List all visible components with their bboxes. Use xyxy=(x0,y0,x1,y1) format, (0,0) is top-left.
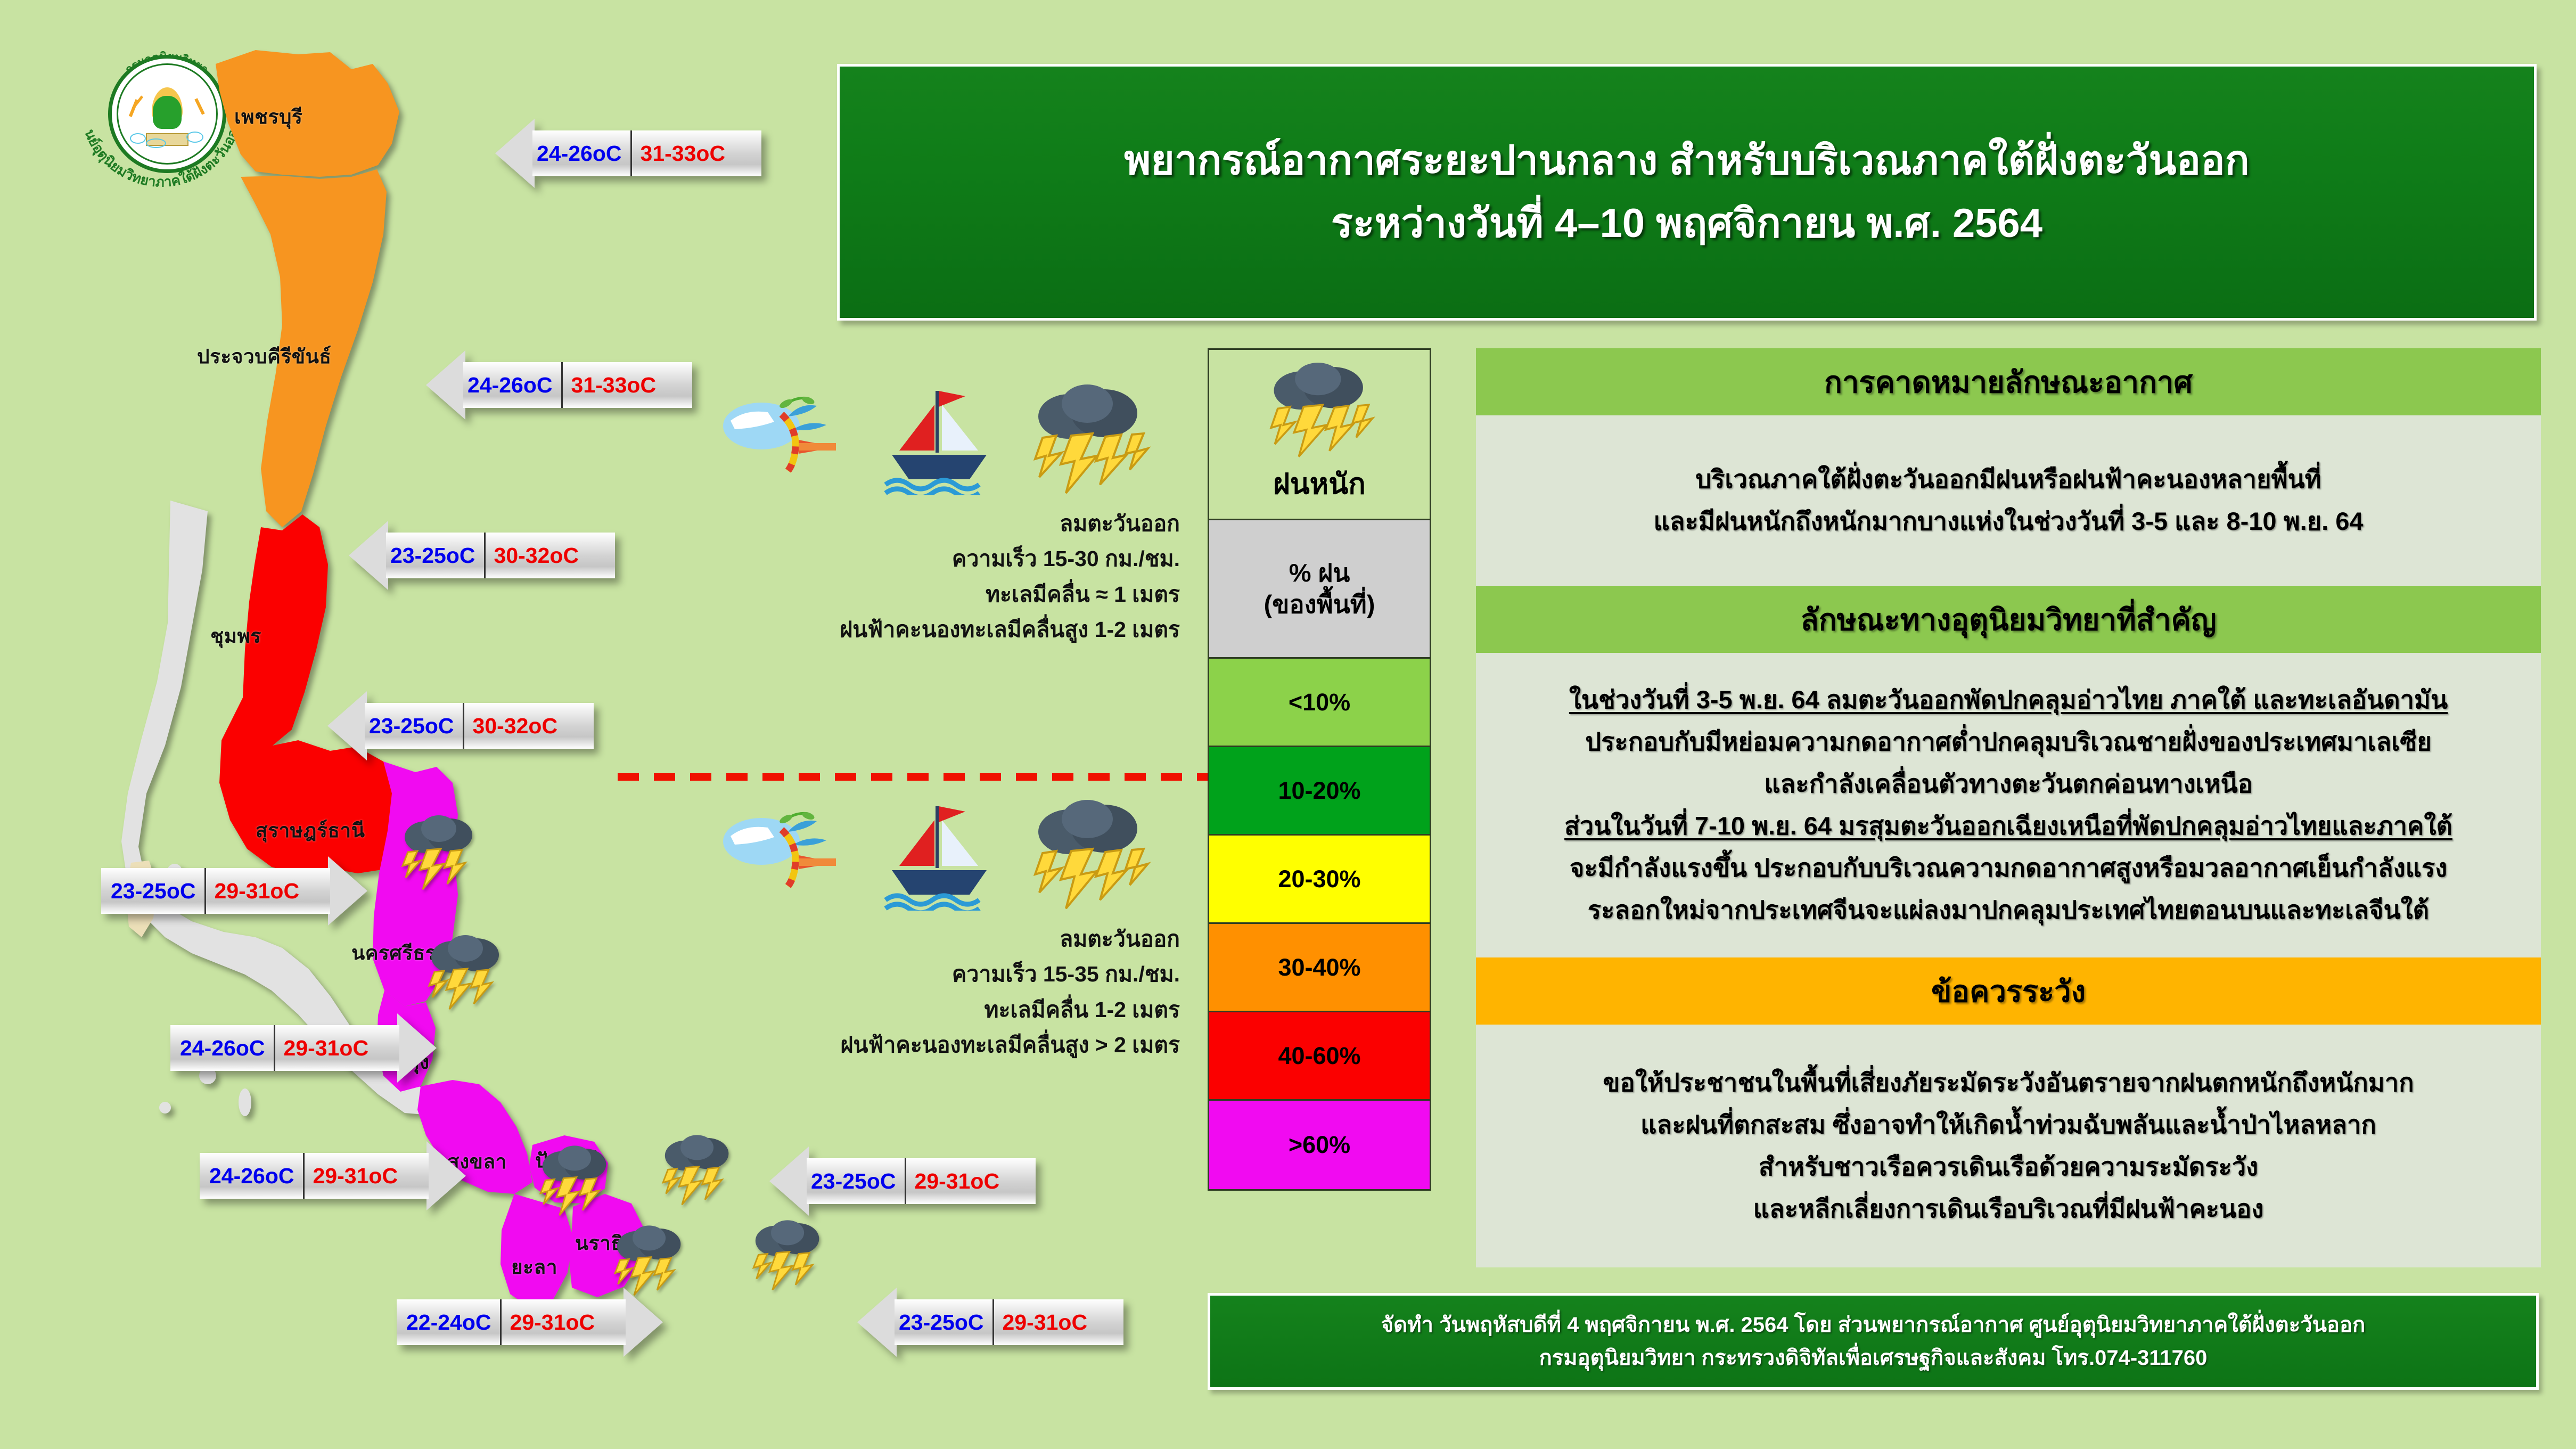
temp-max-unit: C xyxy=(1071,1310,1087,1335)
legend-band-30-40: 30-40% xyxy=(1209,924,1430,1012)
synoptic-line-3: และกำลังเคลื่อนตัวทางตะวันตกค่อนทางเหนือ xyxy=(1764,763,2253,805)
warning-line-2: และฝนที่ตกสะสม ซึ่งอาจทำให้เกิดน้ำท่วมฉั… xyxy=(1640,1104,2376,1146)
temp-max-value: 31-33 xyxy=(571,373,627,398)
temp-min-value: 24-26 xyxy=(180,1036,236,1061)
arrow-head-left-icon xyxy=(349,521,388,590)
temp-callout-songkhla[interactable]: 24-26oC 29-31oC xyxy=(200,1153,466,1199)
title-line-1: พยากรณ์อากาศระยะปานกลาง สำหรับบริเวณภาคใ… xyxy=(1124,129,2250,192)
temp-min-unit: C xyxy=(438,714,454,739)
legend-band-10-20: 10-20% xyxy=(1209,747,1430,836)
temp-max-value: 29-31 xyxy=(284,1036,340,1061)
temp-max-unit: C xyxy=(640,373,656,398)
temp-max-value: 31-33 xyxy=(641,141,696,166)
thunderstorm-icon-phatthalung xyxy=(421,935,511,1014)
thunderstorm-icon-narathiwat xyxy=(745,1219,831,1295)
temp-max-value: 29-31 xyxy=(915,1169,971,1194)
divider xyxy=(500,1299,502,1345)
legend-percent-line2: (ของพื้นที่) xyxy=(1264,589,1375,620)
panel-heading-text: การคาดหมายลักษณะอากาศ xyxy=(1824,358,2193,406)
wind-direction-label: ลมตะวันออก xyxy=(708,921,1187,956)
temp-callout-suratthani[interactable]: 23-25oC 30-32oC xyxy=(327,703,594,749)
temp-max-unit: C xyxy=(283,879,299,904)
temp-callout-nakhonsi[interactable]: 23-25oC 29-31oC xyxy=(101,868,367,914)
synoptic-line-5: จะมีกำลังแรงขึ้น ประกอบกับบริเวณความกดอา… xyxy=(1570,847,2447,889)
province-label-chumphon: ชุมพร xyxy=(210,620,261,652)
warning-line-4: และหลีกเลี่ยงการเดินเรือบริเวณที่มีฝนฟ้า… xyxy=(1753,1188,2264,1230)
panel-heading-warning: ข้อควรระวัง xyxy=(1476,957,2541,1025)
legend-band-label: 20-30% xyxy=(1278,865,1360,893)
arrow-head-left-icon xyxy=(769,1147,809,1216)
warning-line-1: ขอให้ประชาชนในพื้นที่เสี่ยงภัยระมัดระวัง… xyxy=(1603,1062,2414,1104)
temp-callout-yala[interactable]: 22-24oC 29-31oC xyxy=(397,1299,663,1345)
temp-min-value: 22-24 xyxy=(406,1310,462,1335)
forecast-line-1: บริเวณภาคใต้ฝั่งตะวันออกมีฝนหรือฝนฟ้าคะน… xyxy=(1695,459,2321,501)
legend-band-label: >60% xyxy=(1289,1131,1350,1159)
temp-min-unit: C xyxy=(968,1310,984,1335)
footer-line-1: จัดทำ วันพฤหัสบดีที่ 4 พฤศจิกายน พ.ศ. 25… xyxy=(1381,1308,2366,1341)
thunder-wave-label: ฝนฟ้าคะนองทะเลมีคลื่นสูง > 2 เมตร xyxy=(708,1027,1187,1062)
temp-min-value: 23-25 xyxy=(390,543,446,568)
thunderstorm-icon xyxy=(1022,383,1155,498)
province-label-phetchaburi: เพชรบุรี xyxy=(234,101,302,133)
temp-max-value: 30-32 xyxy=(473,714,529,739)
sailboat-icon xyxy=(876,799,1004,911)
temp-callout-phatthalung[interactable]: 24-26oC 29-31oC xyxy=(170,1025,437,1071)
arrow-head-right-icon xyxy=(328,856,367,926)
temp-min-unit: C xyxy=(180,879,196,904)
temp-max-unit: C xyxy=(579,1310,595,1335)
legend-band-label: 10-20% xyxy=(1278,777,1360,805)
temp-max-unit: C xyxy=(382,1164,398,1189)
temp-min-unit: C xyxy=(606,141,622,166)
legend-header: ฝนหนัก xyxy=(1209,350,1430,520)
divider xyxy=(630,130,632,176)
divider xyxy=(905,1158,906,1204)
temp-min-value: 24-26 xyxy=(537,141,593,166)
temp-min-value: 24-26 xyxy=(209,1164,265,1189)
thunderstorm-icon-songkhla xyxy=(532,1145,618,1221)
temp-max-unit: C xyxy=(352,1036,368,1061)
sailboat-icon xyxy=(876,383,1004,495)
province-label-prachuap: ประจวบคีรีขันธ์ xyxy=(197,341,331,372)
thunder-wave-label: ฝนฟ้าคะนองทะเลมีคลื่นสูง 1-2 เมตร xyxy=(708,612,1187,647)
temp-max-unit: C xyxy=(983,1169,999,1194)
page-title: พยากรณ์อากาศระยะปานกลาง สำหรับบริเวณภาคใ… xyxy=(837,64,2537,321)
temp-max-value: 29-31 xyxy=(215,879,270,904)
panel-heading-synoptic: ลักษณะทางอุตุนิยมวิทยาที่สำคัญ xyxy=(1476,586,2541,653)
synoptic-line-2: ประกอบกับมีหย่อมความกดอากาศต่ำปกคลุมบริเ… xyxy=(1585,721,2431,763)
temp-min-unit: C xyxy=(880,1169,896,1194)
temp-max-unit: C xyxy=(563,543,579,568)
divider xyxy=(303,1153,305,1199)
temp-min-unit: C xyxy=(278,1164,294,1189)
legend-band-lt10: <10% xyxy=(1209,659,1430,747)
temp-min-unit: C xyxy=(249,1036,265,1061)
temp-callout-chumphon[interactable]: 23-25oC 30-32oC xyxy=(349,533,615,578)
temp-min-value: 24-26 xyxy=(467,373,523,398)
temp-min-unit: C xyxy=(460,543,475,568)
synoptic-line-6: ระลอกใหม่จากประเทศจีนจะแผ่ลงมาปกคลุมประเ… xyxy=(1588,889,2429,931)
panel-heading-text: ลักษณะทางอุตุนิยมวิทยาที่สำคัญ xyxy=(1800,596,2216,643)
panel-heading-forecast: การคาดหมายลักษณะอากาศ xyxy=(1476,348,2541,415)
temp-min-unit: C xyxy=(475,1310,491,1335)
warning-line-3: สำหรับชาวเรือควรเดินเรือด้วยความระมัดระว… xyxy=(1759,1146,2258,1188)
thunderstorm-icon-pattani xyxy=(655,1134,740,1210)
wind-block-lower: ลมตะวันออก ความเร็ว 15-35 กม./ชม. ทะเลมี… xyxy=(708,793,1187,1063)
synoptic-line-1: ในช่วงวันที่ 3-5 พ.ย. 64 ลมตะวันออกพัดปก… xyxy=(1569,679,2448,721)
legend-percent-header: % ฝน (ของพื้นที่) xyxy=(1209,520,1430,659)
arrow-head-left-icon xyxy=(857,1288,897,1357)
divider xyxy=(484,533,486,578)
wind-block-upper: ลมตะวันออก ความเร็ว 15-30 กม./ชม. ทะเลมี… xyxy=(708,378,1187,648)
thunderstorm-icon-nakhonsi xyxy=(394,815,485,895)
province-label-suratthani: สุราษฎร์ธานี xyxy=(256,815,365,846)
temp-min-value: 23-25 xyxy=(111,879,167,904)
temp-min-unit: C xyxy=(537,373,553,398)
divider xyxy=(274,1025,275,1071)
page-footer: จัดทำ วันพฤหัสบดีที่ 4 พฤศจิกายน พ.ศ. 25… xyxy=(1208,1293,2539,1390)
province-label-yala: ยะลา xyxy=(511,1251,557,1283)
legend-band-label: 30-40% xyxy=(1278,954,1360,981)
wind-direction-label: ลมตะวันออก xyxy=(708,506,1187,541)
panel-heading-text: ข้อควรระวัง xyxy=(1931,968,2086,1015)
temp-max-unit: C xyxy=(709,141,725,166)
thunderstorm-icon xyxy=(1022,799,1155,913)
windsock-icon xyxy=(719,804,857,900)
legend-band-20-30: 20-30% xyxy=(1209,836,1430,924)
zone-divider-dashed-line xyxy=(618,773,1209,781)
wave-height-label: ทะเลมีคลื่น 1-2 เมตร xyxy=(708,992,1187,1027)
legend-band-40-60: 40-60% xyxy=(1209,1012,1430,1101)
temp-callout-pattani[interactable]: 23-25oC 29-31oC xyxy=(769,1158,1036,1204)
wind-speed-label: ความเร็ว 15-30 กม./ชม. xyxy=(708,541,1187,576)
temp-max-value: 29-31 xyxy=(510,1310,566,1335)
divider xyxy=(204,868,206,914)
temp-min-value: 23-25 xyxy=(899,1310,955,1335)
temp-callout-prachuap[interactable]: 24-26oC 31-33oC xyxy=(426,362,692,408)
panel-body-forecast: บริเวณภาคใต้ฝั่งตะวันออกมีฝนหรือฝนฟ้าคะน… xyxy=(1476,415,2541,586)
rainfall-legend: ฝนหนัก % ฝน (ของพื้นที่) <10% 10-20% 20-… xyxy=(1208,348,1431,1191)
arrow-head-left-icon xyxy=(495,119,535,188)
legend-band-gt60: >60% xyxy=(1209,1101,1430,1189)
heavy-rain-icon xyxy=(1258,363,1381,459)
synoptic-line-4: ส่วนในวันที่ 7-10 พ.ย. 64 มรสุมตะวันออกเ… xyxy=(1564,805,2452,847)
divider xyxy=(561,362,563,408)
temp-max-value: 29-31 xyxy=(1003,1310,1059,1335)
legend-icon-label: ฝนหนัก xyxy=(1273,461,1366,506)
forecast-line-2: และมีฝนหนักถึงหนักมากบางแห่งในช่วงวันที่… xyxy=(1653,501,2363,543)
temp-max-value: 30-32 xyxy=(494,543,550,568)
divider xyxy=(992,1299,994,1345)
arrow-head-right-icon xyxy=(624,1288,663,1357)
arrow-head-left-icon xyxy=(426,350,465,420)
wave-height-label: ทะเลมีคลื่น ≈ 1 เมตร xyxy=(708,577,1187,612)
temp-callout-phetchaburi[interactable]: 24-26oC 31-33oC xyxy=(495,130,761,176)
temp-max-unit: C xyxy=(542,714,557,739)
title-line-2: ระหว่างวันที่ 4–10 พฤศจิกายน พ.ศ. 2564 xyxy=(1331,192,2042,255)
wind-speed-label: ความเร็ว 15-35 กม./ชม. xyxy=(708,956,1187,992)
legend-band-label: <10% xyxy=(1289,689,1350,716)
footer-line-2: กรมอุตุนิยมวิทยา กระทรวงดิจิทัลเพื่อเศรษ… xyxy=(1539,1341,2208,1374)
arrow-head-right-icon xyxy=(397,1013,437,1083)
temp-max-value: 29-31 xyxy=(313,1164,369,1189)
temp-callout-narathiwat[interactable]: 23-25oC 29-31oC xyxy=(857,1299,1123,1345)
arrow-head-left-icon xyxy=(327,691,367,760)
panel-body-synoptic: ในช่วงวันที่ 3-5 พ.ย. 64 ลมตะวันออกพัดปก… xyxy=(1476,653,2541,957)
divider xyxy=(463,703,464,749)
legend-percent-line1: % ฝน xyxy=(1289,558,1350,589)
legend-band-label: 40-60% xyxy=(1278,1042,1360,1070)
temp-min-value: 23-25 xyxy=(369,714,425,739)
panel-body-warning: ขอให้ประชาชนในพื้นที่เสี่ยงภัยระมัดระวัง… xyxy=(1476,1025,2541,1267)
arrow-head-right-icon xyxy=(426,1141,466,1210)
windsock-icon xyxy=(719,389,857,485)
temp-min-value: 23-25 xyxy=(811,1169,867,1194)
